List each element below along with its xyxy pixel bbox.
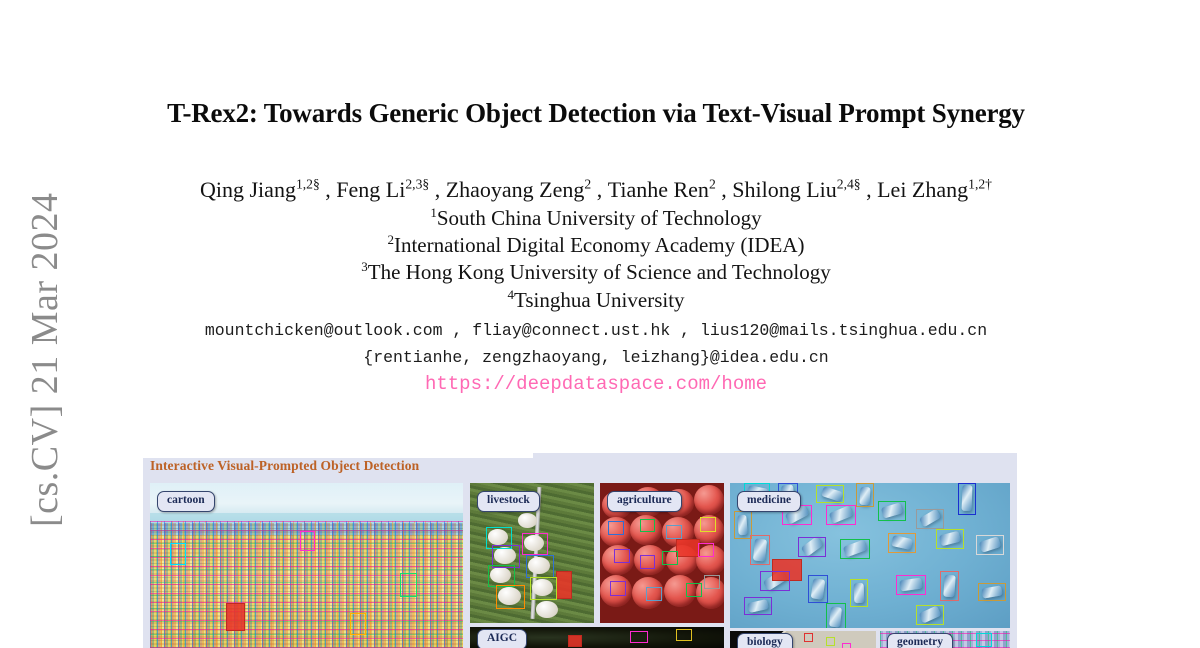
affiliation-1-name: South China University of Technology [437,206,762,230]
agriculture-box-1 [608,521,624,535]
livestock-visual-prompt-box [556,571,572,599]
author-sep-4: , [716,177,733,202]
geometry-box-3 [976,633,992,647]
sheep-9 [536,601,558,618]
medicine-box-18 [808,575,828,603]
biology-box-2 [826,637,835,646]
medicine-box-11 [750,535,770,565]
medicine-box-5 [958,483,976,515]
author-sep-1: , [320,177,337,202]
figure-header-title: Interactive Visual-Prompted Object Detec… [150,458,419,474]
medicine-box-16 [976,535,1004,555]
medicine-box-25 [916,605,944,625]
cartoon-box-1 [170,543,186,565]
author-6: Lei Zhang1,2† [877,177,992,202]
livestock-box-3 [488,565,515,587]
cartoon-visual-prompt-box [226,603,245,631]
author-5: Shilong Liu2,4§ [732,177,860,202]
emails-line-2: {rentianhe, zengzhaoyang, leizhang}@idea… [96,348,1096,367]
author-1-sup: 1,2§ [296,177,320,192]
cartoon-box-4 [350,613,366,635]
author-sep-3: , [591,177,608,202]
panel-tag-geometry[interactable]: geometry [887,633,953,648]
agriculture-box-12 [704,575,720,589]
affiliation-3-name: The Hong Kong University of Science and … [368,260,831,284]
medicine-box-22 [978,583,1006,601]
affiliation-4-name: Tsinghua University [514,288,685,312]
emails-line-1: mountchicken@outlook.com , fliay@connect… [96,321,1096,340]
medicine-box-8 [826,505,856,525]
medicine-box-17 [760,571,790,591]
arxiv-stamp-text: [cs.CV] 21 Mar 2024 [23,97,67,527]
medicine-box-4 [856,483,874,507]
affiliation-2-name: International Digital Economy Academy (I… [394,233,805,257]
biology-box-1 [804,633,813,642]
agriculture-box-11 [686,583,702,597]
agriculture-box-4 [700,517,716,532]
medicine-box-21 [940,571,959,601]
aigc-box-2 [676,629,692,641]
author-sep-2: , [429,177,446,202]
paper-body: T-Rex2: Towards Generic Object Detection… [96,0,1200,648]
affiliation-4: 4Tsinghua University [96,288,1096,313]
affiliation-3: 3The Hong Kong University of Science and… [96,260,1096,285]
agriculture-box-8 [698,543,714,557]
authors-line: Qing Jiang1,2§ , Feng Li2,3§ , Zhaoyang … [96,177,1096,203]
panel-tag-cartoon[interactable]: cartoon [157,491,215,512]
agriculture-box-5 [614,549,630,563]
medicine-box-13 [840,539,870,559]
medicine-box-20 [896,575,926,595]
livestock-box-5 [522,533,548,555]
aigc-box-1 [630,631,648,643]
panel-tag-medicine[interactable]: medicine [737,491,801,512]
agriculture-visual-prompt-box [676,539,700,557]
author-2-sup: 2,3§ [405,177,429,192]
agriculture-box-6 [640,555,655,569]
author-5-sup: 2,4§ [837,177,861,192]
author-sep-5: , [861,177,878,202]
author-3: Zhaoyang Zeng2 [446,177,591,202]
author-1: Qing Jiang1,2§ [200,177,320,202]
page-title: T-Rex2: Towards Generic Object Detection… [96,98,1096,129]
medicine-box-10 [916,509,944,529]
author-2: Feng Li2,3§ [336,177,429,202]
agriculture-box-9 [610,581,626,596]
project-url-link[interactable]: https://deepdataspace.com/home [96,373,1096,395]
medicine-box-23 [744,597,772,615]
cartoon-box-3 [400,573,417,597]
medicine-box-9 [878,501,906,521]
affiliation-2: 2International Digital Economy Academy (… [96,233,1096,258]
author-4-sup: 2 [709,177,716,192]
sheep-5 [518,513,537,528]
medicine-box-19 [850,579,868,607]
medicine-box-24 [826,603,846,628]
agriculture-box-7 [662,551,678,565]
arxiv-stamp: [cs.CV] 21 Mar 2024 [0,0,96,648]
medicine-box-14 [888,533,916,553]
panel-tag-livestock[interactable]: livestock [477,491,540,512]
affiliation-1: 1South China University of Technology [96,206,1096,231]
author-4: Tianhe Ren2 [608,177,716,202]
medicine-box-15 [936,529,964,549]
agriculture-box-3 [666,525,682,539]
panel-tag-biology[interactable]: biology [737,633,793,648]
tomato-4 [694,485,724,515]
cartoon-box-2 [300,531,315,551]
livestock-box-6 [526,555,554,578]
agriculture-box-10 [646,587,662,601]
panel-tag-aigc[interactable]: AIGC [477,629,527,648]
aigc-visual-prompt-box [568,635,582,647]
agriculture-box-2 [640,519,655,532]
medicine-box-12 [798,537,826,557]
biology-box-3 [842,643,851,648]
medicine-box-3 [816,485,844,503]
teaser-figure: Interactive Visual-Prompted Object Detec… [143,453,1017,648]
panel-tag-agriculture[interactable]: agriculture [607,491,682,512]
livestock-box-7 [530,577,557,600]
author-6-sup: 1,2† [968,177,992,192]
livestock-box-4 [496,585,525,609]
